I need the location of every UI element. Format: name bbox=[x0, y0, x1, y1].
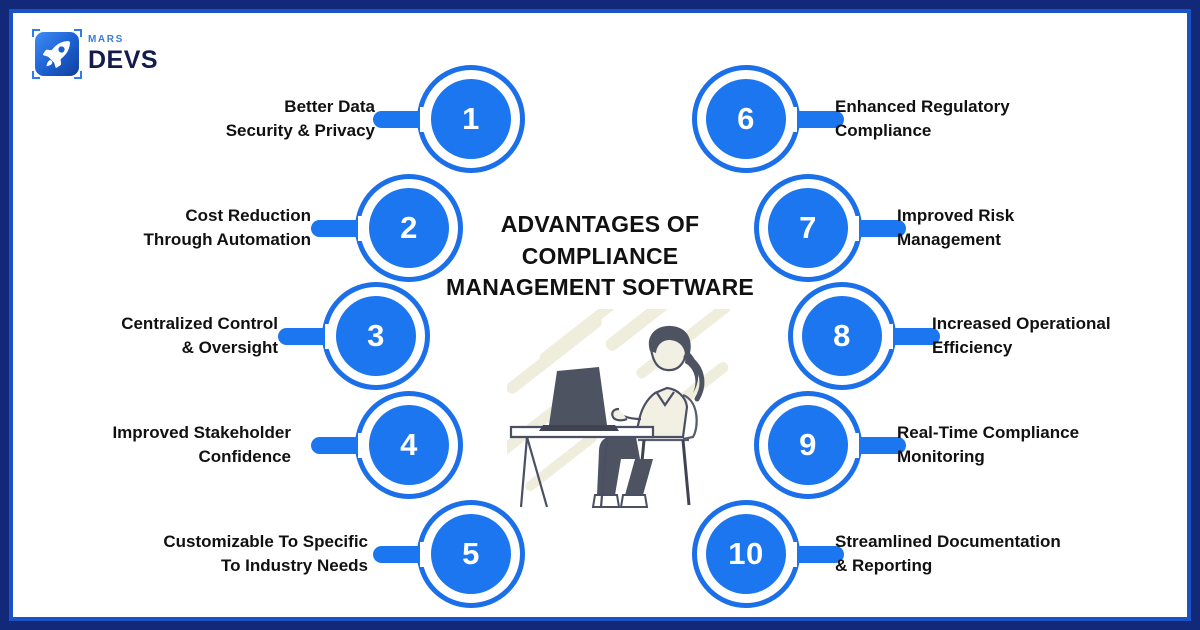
label-9-line-2: Monitoring bbox=[897, 445, 1191, 469]
label-5-line-1: Customizable To Specific bbox=[68, 530, 368, 554]
label-1: Better Data Security & Privacy bbox=[75, 95, 375, 143]
node-2[interactable]: 2 bbox=[355, 174, 463, 282]
label-8-line-2: Efficiency bbox=[932, 336, 1191, 360]
rocket-glyph bbox=[41, 38, 73, 70]
brand-name-top: MARS bbox=[88, 35, 158, 45]
label-5-line-2: To Industry Needs bbox=[68, 554, 368, 578]
node-number: 4 bbox=[369, 405, 449, 485]
node-5[interactable]: 5 bbox=[417, 500, 525, 608]
label-6-line-2: Compliance bbox=[835, 119, 1135, 143]
label-1-line-2: Security & Privacy bbox=[75, 119, 375, 143]
node-number: 9 bbox=[768, 405, 848, 485]
logo-bracket-top-left bbox=[32, 29, 40, 37]
label-10-line-2: & Reporting bbox=[835, 554, 1135, 578]
node-number: 5 bbox=[431, 514, 511, 594]
node-number: 6 bbox=[706, 79, 786, 159]
page-title-line-2: COMPLIANCE bbox=[435, 241, 765, 273]
label-10-line-1: Streamlined Documentation bbox=[835, 530, 1135, 554]
node-10[interactable]: 10 bbox=[692, 500, 800, 608]
page-title: ADVANTAGES OF COMPLIANCE MANAGEMENT SOFT… bbox=[435, 209, 765, 304]
page-title-line-3: MANAGEMENT SOFTWARE bbox=[435, 272, 765, 304]
node-number: 10 bbox=[706, 514, 786, 594]
woman-at-desk-with-laptop-illustration bbox=[507, 309, 733, 521]
label-1-line-1: Better Data bbox=[75, 95, 375, 119]
node-number: 3 bbox=[336, 296, 416, 376]
label-8: Increased Operational Efficiency bbox=[932, 312, 1191, 360]
infographic-page: MARS DEVS ADVANTAGES OF COMPLIANCE MANAG… bbox=[0, 0, 1200, 630]
node-3[interactable]: 3 bbox=[322, 282, 430, 390]
label-2: Cost Reduction Through Automation bbox=[11, 204, 311, 252]
label-7-line-2: Management bbox=[897, 228, 1191, 252]
node-4[interactable]: 4 bbox=[355, 391, 463, 499]
logo-bracket-bottom-left bbox=[32, 71, 40, 79]
label-2-line-1: Cost Reduction bbox=[11, 204, 311, 228]
label-3: Centralized Control & Oversight bbox=[9, 312, 278, 360]
label-7: Improved Risk Management bbox=[897, 204, 1191, 252]
label-3-line-2: & Oversight bbox=[9, 336, 278, 360]
label-5: Customizable To Specific To Industry Nee… bbox=[68, 530, 368, 578]
infographic-canvas: MARS DEVS ADVANTAGES OF COMPLIANCE MANAG… bbox=[9, 9, 1191, 621]
node-9[interactable]: 9 bbox=[754, 391, 862, 499]
rocket-icon bbox=[35, 32, 79, 76]
brand-wordmark: MARS DEVS bbox=[88, 35, 158, 73]
label-9-line-1: Real-Time Compliance bbox=[897, 421, 1191, 445]
label-8-line-1: Increased Operational bbox=[932, 312, 1191, 336]
node-number: 7 bbox=[768, 188, 848, 268]
page-title-line-1: ADVANTAGES OF bbox=[435, 209, 765, 241]
label-4-line-2: Confidence bbox=[9, 445, 291, 469]
label-4: Improved Stakeholder Confidence bbox=[9, 421, 291, 469]
node-7[interactable]: 7 bbox=[754, 174, 862, 282]
label-3-line-1: Centralized Control bbox=[9, 312, 278, 336]
node-1[interactable]: 1 bbox=[417, 65, 525, 173]
label-10: Streamlined Documentation & Reporting bbox=[835, 530, 1135, 578]
label-7-line-1: Improved Risk bbox=[897, 204, 1191, 228]
brand-name-main: DEVS bbox=[88, 48, 158, 73]
node-number: 1 bbox=[431, 79, 511, 159]
label-9: Real-Time Compliance Monitoring bbox=[897, 421, 1191, 469]
label-4-line-1: Improved Stakeholder bbox=[9, 421, 291, 445]
brand-logo[interactable]: MARS DEVS bbox=[35, 32, 158, 76]
label-6-line-1: Enhanced Regulatory bbox=[835, 95, 1135, 119]
logo-bracket-top-right bbox=[74, 29, 82, 37]
label-2-line-2: Through Automation bbox=[11, 228, 311, 252]
node-6[interactable]: 6 bbox=[692, 65, 800, 173]
logo-bracket-bottom-right bbox=[74, 71, 82, 79]
node-8[interactable]: 8 bbox=[788, 282, 896, 390]
label-6: Enhanced Regulatory Compliance bbox=[835, 95, 1135, 143]
node-number: 8 bbox=[802, 296, 882, 376]
node-number: 2 bbox=[369, 188, 449, 268]
